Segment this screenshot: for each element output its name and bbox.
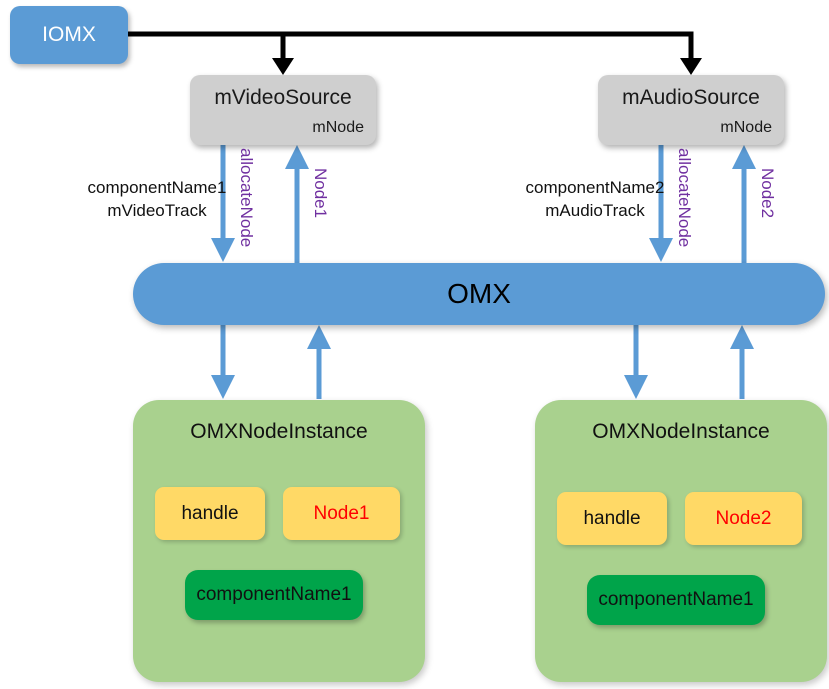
arrow-instance-right-to-omx: [730, 325, 754, 399]
audio-request-label: componentName2 mAudioTrack: [500, 177, 690, 223]
video-source-box[interactable]: mVideoSource mNode: [190, 75, 376, 145]
component-name-chip-left[interactable]: componentName1: [185, 570, 363, 620]
video-request-line1: componentName1: [62, 177, 252, 200]
allocate-node-label-right: allocateNode: [674, 148, 694, 247]
component-name-chip-right[interactable]: componentName1: [587, 575, 765, 625]
arrow-omx-to-instance-right: [624, 325, 648, 399]
iomx-trunk: [128, 34, 702, 75]
arrow-instance-left-to-omx: [307, 325, 331, 399]
omx-box[interactable]: OMX: [133, 263, 825, 325]
omx-node-instance-left-title: OMXNodeInstance: [133, 420, 425, 444]
omx-label: OMX: [447, 278, 511, 309]
node-id-chip-right-label: Node2: [716, 508, 772, 529]
audio-request-line2: mAudioTrack: [500, 200, 690, 223]
component-name-chip-right-label: componentName1: [598, 589, 753, 610]
component-name-chip-left-label: componentName1: [196, 584, 351, 605]
arrow-video-node1-return: [285, 145, 309, 263]
omx-node-instance-right-title: OMXNodeInstance: [535, 420, 827, 444]
node1-return-label: Node1: [310, 168, 330, 218]
audio-source-mnode-label: mNode: [720, 119, 772, 137]
node-id-chip-right[interactable]: Node2: [685, 492, 802, 545]
handle-chip-left[interactable]: handle: [155, 487, 265, 540]
allocate-node-label-left: allocateNode: [236, 148, 256, 247]
iomx-box[interactable]: IOMX: [10, 6, 128, 64]
node-id-chip-left-label: Node1: [314, 503, 370, 524]
arrow-omx-to-instance-left: [211, 325, 235, 399]
video-request-label: componentName1 mVideoTrack: [62, 177, 252, 223]
audio-request-line1: componentName2: [500, 177, 690, 200]
video-source-title: mVideoSource: [190, 86, 376, 110]
omx-node-instance-left[interactable]: OMXNodeInstance: [133, 400, 425, 682]
audio-source-box[interactable]: mAudioSource mNode: [598, 75, 784, 145]
handle-chip-left-label: handle: [181, 503, 238, 524]
handle-chip-right[interactable]: handle: [557, 492, 667, 545]
handle-chip-right-label: handle: [583, 508, 640, 529]
node2-return-label: Node2: [757, 168, 777, 218]
audio-source-title: mAudioSource: [598, 86, 784, 110]
diagram-canvas: IOMX mVideoSource mNode mAudioSource mNo…: [0, 0, 829, 689]
iomx-label: IOMX: [42, 23, 96, 47]
node-id-chip-left[interactable]: Node1: [283, 487, 400, 540]
arrow-audio-node2-return: [732, 145, 756, 263]
video-request-line2: mVideoTrack: [62, 200, 252, 223]
video-source-mnode-label: mNode: [312, 119, 364, 137]
